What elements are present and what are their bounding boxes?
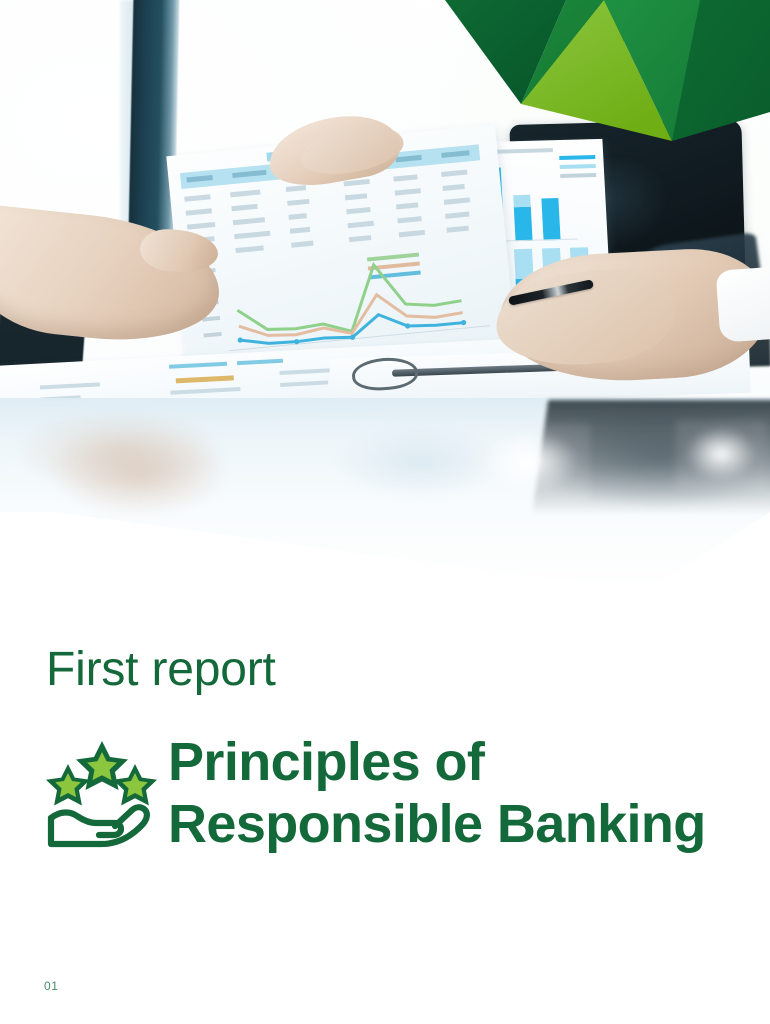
green-geometric-decoration	[0, 0, 770, 170]
hand-reflection	[30, 418, 260, 538]
prb-logo	[44, 738, 160, 850]
report-cover-page: First report	[0, 0, 770, 1024]
star-left-icon	[46, 764, 90, 806]
eyebrow-first-report: First report	[46, 646, 276, 694]
prb-logo-svg	[44, 738, 160, 850]
star-right-icon	[113, 764, 157, 806]
page-number: 01	[44, 979, 59, 993]
white-object-reflection-2	[676, 420, 766, 490]
main-title: Principles of Responsible Banking	[168, 732, 706, 855]
white-object-reflection	[470, 424, 590, 504]
title-line-1: Principles of	[168, 732, 706, 794]
open-hand-icon	[51, 807, 147, 844]
geometric-shapes-svg	[0, 0, 770, 170]
title-line-2: Responsible Banking	[168, 794, 706, 856]
shirt-cuff	[716, 265, 770, 342]
